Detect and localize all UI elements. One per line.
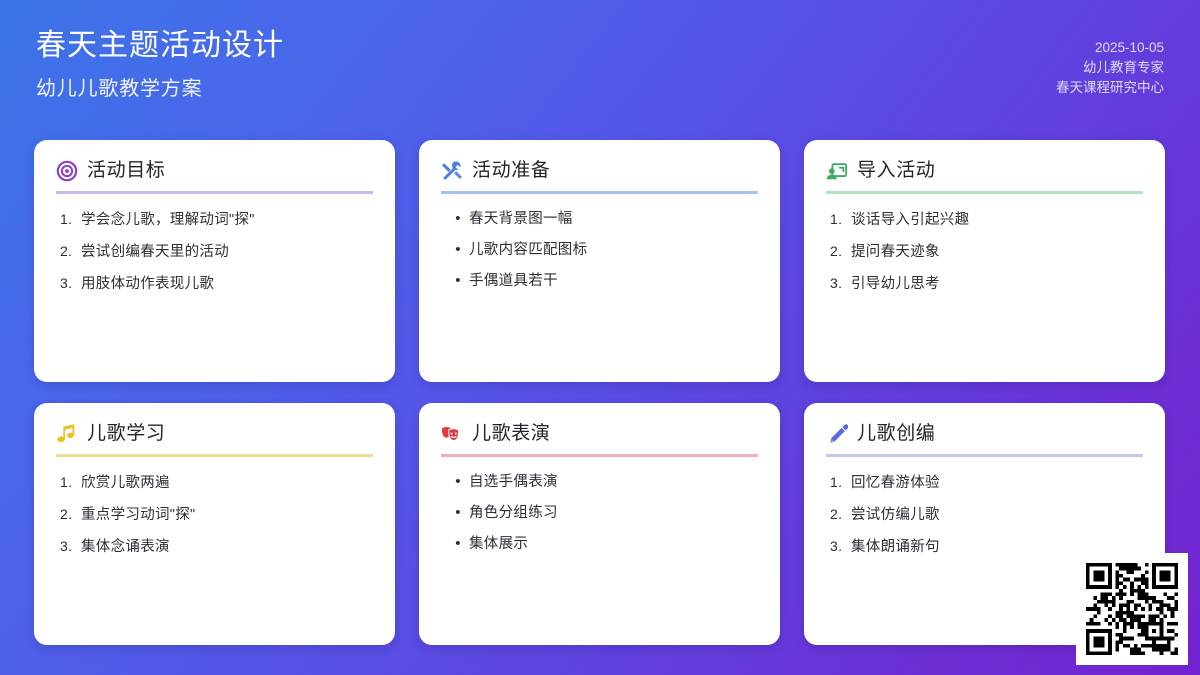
card-1: 活动目标1.学会念儿歌，理解动词"探"2.尝试创编春天里的活动3.用肢体动作表现… (34, 140, 395, 382)
tools-icon (441, 160, 463, 182)
card-5: 儿歌表演•自选手偶表演•角色分组练习•集体展示 (419, 403, 780, 645)
list-item-text: 欣赏儿歌两遍 (81, 474, 373, 492)
card-list: 1.学会念儿歌，理解动词"探"2.尝试创编春天里的活动3.用肢体动作表现儿歌 (56, 210, 373, 293)
card-title: 儿歌表演 (472, 423, 550, 445)
list-number: 3. (830, 537, 851, 555)
list-item-text: 尝试创编春天里的活动 (81, 243, 373, 261)
list-item-text: 儿歌内容匹配图标 (469, 241, 758, 259)
card-3: 导入活动1.谈话导入引起兴趣2.提问春天迹象3.引导幼儿思考 (804, 140, 1165, 382)
card-title: 活动目标 (87, 160, 165, 182)
list-item: 2.尝试创编春天里的活动 (60, 242, 373, 261)
list-item: 1.欣赏儿歌两遍 (60, 473, 373, 492)
list-number: 3. (60, 537, 81, 555)
card-title: 导入活动 (857, 160, 935, 182)
card-header: 儿歌表演 (441, 423, 758, 457)
list-number: 2. (830, 242, 851, 260)
list-item-text: 重点学习动词"探" (81, 506, 373, 524)
list-item: 3.集体念诵表演 (60, 537, 373, 556)
list-item: •手偶道具若干 (447, 272, 758, 290)
list-item-text: 自选手偶表演 (469, 473, 758, 491)
list-item: 3.引导幼儿思考 (830, 274, 1143, 293)
page-subtitle: 幼儿儿歌教学方案 (36, 74, 284, 104)
pencil-icon (826, 423, 848, 445)
card-2: 活动准备•春天背景图一幅•儿歌内容匹配图标•手偶道具若干 (419, 140, 780, 382)
list-item-text: 尝试仿编儿歌 (851, 506, 1143, 524)
card-list: •自选手偶表演•角色分组练习•集体展示 (441, 473, 758, 553)
title-block: 春天主题活动设计 幼儿儿歌教学方案 (36, 26, 284, 104)
list-number: 1. (830, 210, 851, 228)
card-title: 儿歌创编 (857, 423, 935, 445)
list-item-text: 引导幼儿思考 (851, 275, 1143, 293)
list-item: 1.谈话导入引起兴趣 (830, 210, 1143, 229)
list-number: 3. (60, 274, 81, 292)
meta-organization: 春天课程研究中心 (1056, 78, 1164, 98)
target-icon (56, 160, 78, 182)
list-number: 1. (60, 473, 81, 491)
list-item: 3.用肢体动作表现儿歌 (60, 274, 373, 293)
list-item: 2.重点学习动词"探" (60, 505, 373, 524)
list-item-text: 集体念诵表演 (81, 538, 373, 556)
card-grid: 活动目标1.学会念儿歌，理解动词"探"2.尝试创编春天里的活动3.用肢体动作表现… (34, 140, 1166, 645)
list-number: 3. (830, 274, 851, 292)
card-list: •春天背景图一幅•儿歌内容匹配图标•手偶道具若干 (441, 210, 758, 290)
list-bullet: • (447, 241, 469, 259)
list-bullet: • (447, 272, 469, 290)
list-item-text: 集体展示 (469, 535, 758, 553)
page-title: 春天主题活动设计 (36, 26, 284, 67)
card-header: 儿歌学习 (56, 423, 373, 457)
list-item: •集体展示 (447, 535, 758, 553)
list-bullet: • (447, 210, 469, 228)
theater-masks-icon (441, 423, 463, 445)
list-item: •自选手偶表演 (447, 473, 758, 491)
list-item-text: 谈话导入引起兴趣 (851, 211, 1143, 229)
list-number: 1. (60, 210, 81, 228)
card-title: 儿歌学习 (87, 423, 165, 445)
qr-code (1086, 563, 1178, 655)
list-item: •春天背景图一幅 (447, 210, 758, 228)
card-list: 1.谈话导入引起兴趣2.提问春天迹象3.引导幼儿思考 (826, 210, 1143, 293)
qr-code-container (1076, 553, 1188, 665)
presenter-icon (826, 160, 848, 182)
list-number: 2. (60, 505, 81, 523)
list-item: 2.提问春天迹象 (830, 242, 1143, 261)
list-item-text: 用肢体动作表现儿歌 (81, 275, 373, 293)
list-item-text: 春天背景图一幅 (469, 210, 758, 228)
header-meta: 2025-10-05 幼儿教育专家 春天课程研究中心 (1056, 38, 1164, 98)
meta-date: 2025-10-05 (1095, 38, 1164, 58)
list-bullet: • (447, 504, 469, 522)
card-header: 儿歌创编 (826, 423, 1143, 457)
list-number: 2. (60, 242, 81, 260)
list-item-text: 回忆春游体验 (851, 474, 1143, 492)
page-header: 春天主题活动设计 幼儿儿歌教学方案 2025-10-05 幼儿教育专家 春天课程… (0, 0, 1200, 128)
list-number: 2. (830, 505, 851, 523)
list-item: 2.尝试仿编儿歌 (830, 505, 1143, 524)
list-item: 1.回忆春游体验 (830, 473, 1143, 492)
list-item-text: 手偶道具若干 (469, 272, 758, 290)
card-list: 1.回忆春游体验2.尝试仿编儿歌3.集体朗诵新句 (826, 473, 1143, 556)
music-note-icon (56, 423, 78, 445)
list-item-text: 提问春天迹象 (851, 243, 1143, 261)
list-item: 1.学会念儿歌，理解动词"探" (60, 210, 373, 229)
meta-author: 幼儿教育专家 (1083, 58, 1164, 78)
list-item-text: 角色分组练习 (469, 504, 758, 522)
list-item: •角色分组练习 (447, 504, 758, 522)
card-header: 导入活动 (826, 160, 1143, 194)
list-number: 1. (830, 473, 851, 491)
list-bullet: • (447, 473, 469, 491)
card-4: 儿歌学习1.欣赏儿歌两遍2.重点学习动词"探"3.集体念诵表演 (34, 403, 395, 645)
card-title: 活动准备 (472, 160, 550, 182)
list-bullet: • (447, 535, 469, 553)
card-header: 活动准备 (441, 160, 758, 194)
card-list: 1.欣赏儿歌两遍2.重点学习动词"探"3.集体念诵表演 (56, 473, 373, 556)
list-item-text: 学会念儿歌，理解动词"探" (81, 211, 373, 229)
card-header: 活动目标 (56, 160, 373, 194)
list-item: •儿歌内容匹配图标 (447, 241, 758, 259)
